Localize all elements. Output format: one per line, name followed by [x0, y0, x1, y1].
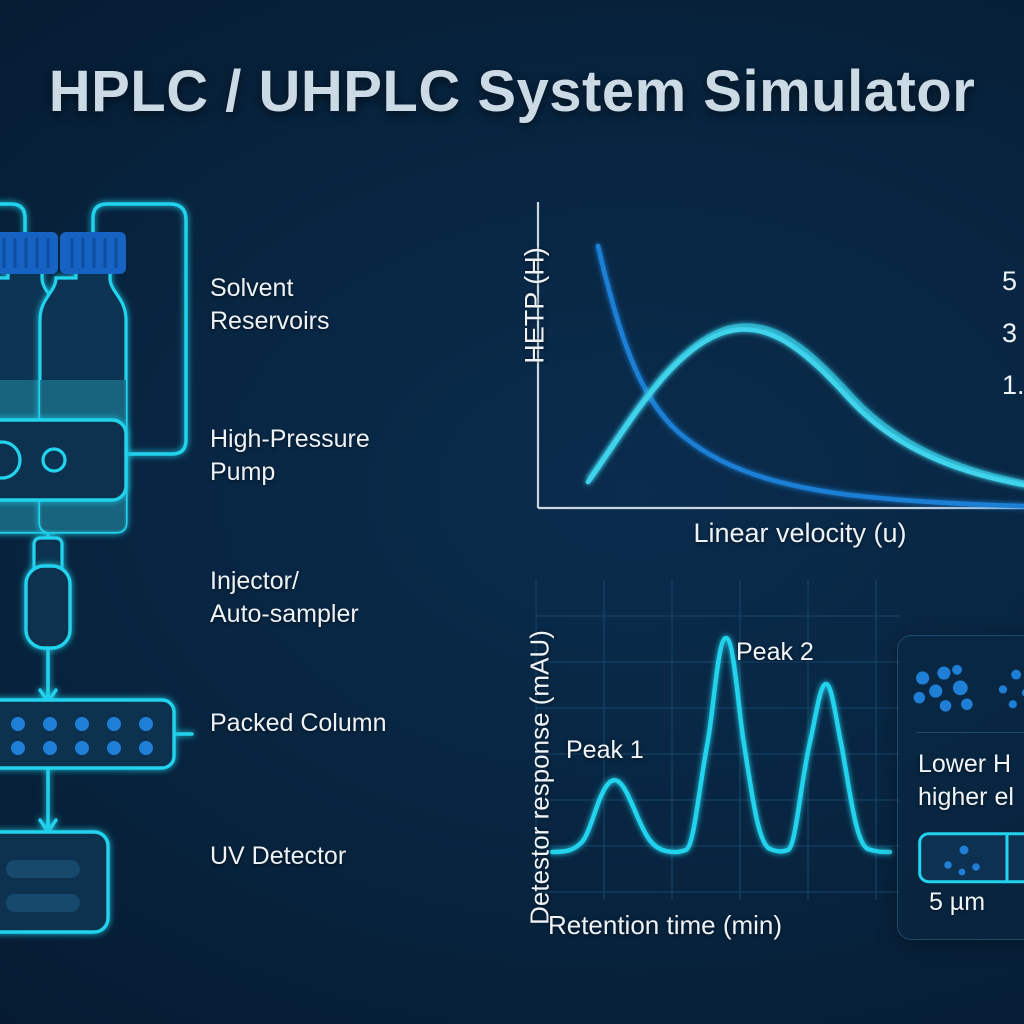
page-title: HPLC / UHPLC System Simulator [0, 58, 1024, 125]
swatch-label-3um: 3 [996, 888, 1024, 917]
legend-label-3um: 3 µ [1002, 318, 1024, 349]
label-packed-column: Packed Column [210, 707, 386, 740]
uv-detector-icon [0, 832, 108, 932]
legend-label-5um: 5 µ [1002, 266, 1024, 297]
hetp-x-axis-label: Linear velocity (u) [540, 518, 1024, 549]
label-high-pressure-pump: High-Pressure Pump [210, 423, 370, 490]
particle-clusters [898, 650, 1024, 724]
particle-swatch-boxes [918, 832, 1024, 884]
series-line-3um [588, 329, 1024, 492]
swatch-label-5um: 5 µm [918, 888, 996, 917]
card-caption: Lower H higher el [918, 748, 1024, 813]
label-injector-autosampler: Injector/ Auto-sampler [210, 565, 359, 632]
annotation-peak-2: Peak 2 [736, 638, 814, 667]
cluster-3um [999, 670, 1024, 709]
packed-column-icon [0, 700, 174, 768]
particle-swatch-labels: 5 µm3 [918, 888, 1024, 917]
particle-size-card: Lower H higher el 5 µm3 [897, 635, 1024, 940]
app-canvas: HPLC / UHPLC System Simulator [0, 0, 1024, 1024]
van-deemter-chart: 5 µ 3 µ 1.7 [470, 190, 1024, 560]
chromatogram-x-axis-label: Retention time (min) [455, 910, 875, 941]
chart-legend [938, 282, 994, 386]
annotation-peak-1: Peak 1 [566, 736, 644, 765]
label-uv-detector: UV Detector [210, 840, 346, 873]
card-divider [916, 732, 1024, 733]
hetp-y-axis-label: HETP (H) [520, 196, 551, 416]
legend-label-1p7um: 1.7 [1002, 370, 1024, 401]
injector-icon [26, 538, 70, 648]
cluster-5um [914, 665, 973, 712]
pump-icon [0, 420, 126, 500]
label-solvent-reservoirs: Solvent Reservoirs [210, 272, 329, 339]
